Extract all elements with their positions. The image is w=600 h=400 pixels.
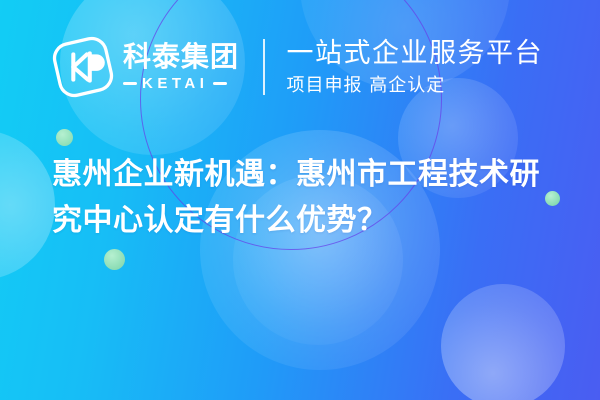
ketai-kp-monogram-icon bbox=[52, 36, 114, 98]
banner-header: 科泰集团 KETAI 一站式企业服务平台 项目申报 高企认定 bbox=[52, 36, 543, 98]
dash-right-icon bbox=[213, 82, 227, 85]
brand-name-en-row: KETAI bbox=[123, 76, 239, 91]
page-title: 惠州企业新机遇：惠州市工程技术研究中心认定有什么优势？ bbox=[52, 152, 557, 243]
brand-name-cn: 科泰集团 bbox=[123, 43, 239, 71]
brand-name-en: KETAI bbox=[142, 76, 208, 91]
green-dot-lower-left bbox=[104, 249, 125, 270]
soft-circle-left-edge bbox=[0, 130, 55, 280]
brand-logo[interactable]: 科泰集团 KETAI bbox=[52, 36, 239, 98]
tagline-block: 一站式企业服务平台 项目申报 高企认定 bbox=[287, 38, 544, 97]
brand-wordmark: 科泰集团 KETAI bbox=[123, 43, 239, 91]
tagline-sub: 项目申报 高企认定 bbox=[287, 76, 544, 97]
tagline-main: 一站式企业服务平台 bbox=[287, 38, 544, 69]
promo-banner: 科泰集团 KETAI 一站式企业服务平台 项目申报 高企认定 惠州企业新机遇：惠… bbox=[0, 0, 600, 400]
green-dot-upper-left bbox=[56, 129, 73, 146]
header-divider bbox=[263, 39, 265, 95]
dash-left-icon bbox=[123, 82, 137, 85]
soft-circle-bottom-right bbox=[441, 284, 565, 400]
